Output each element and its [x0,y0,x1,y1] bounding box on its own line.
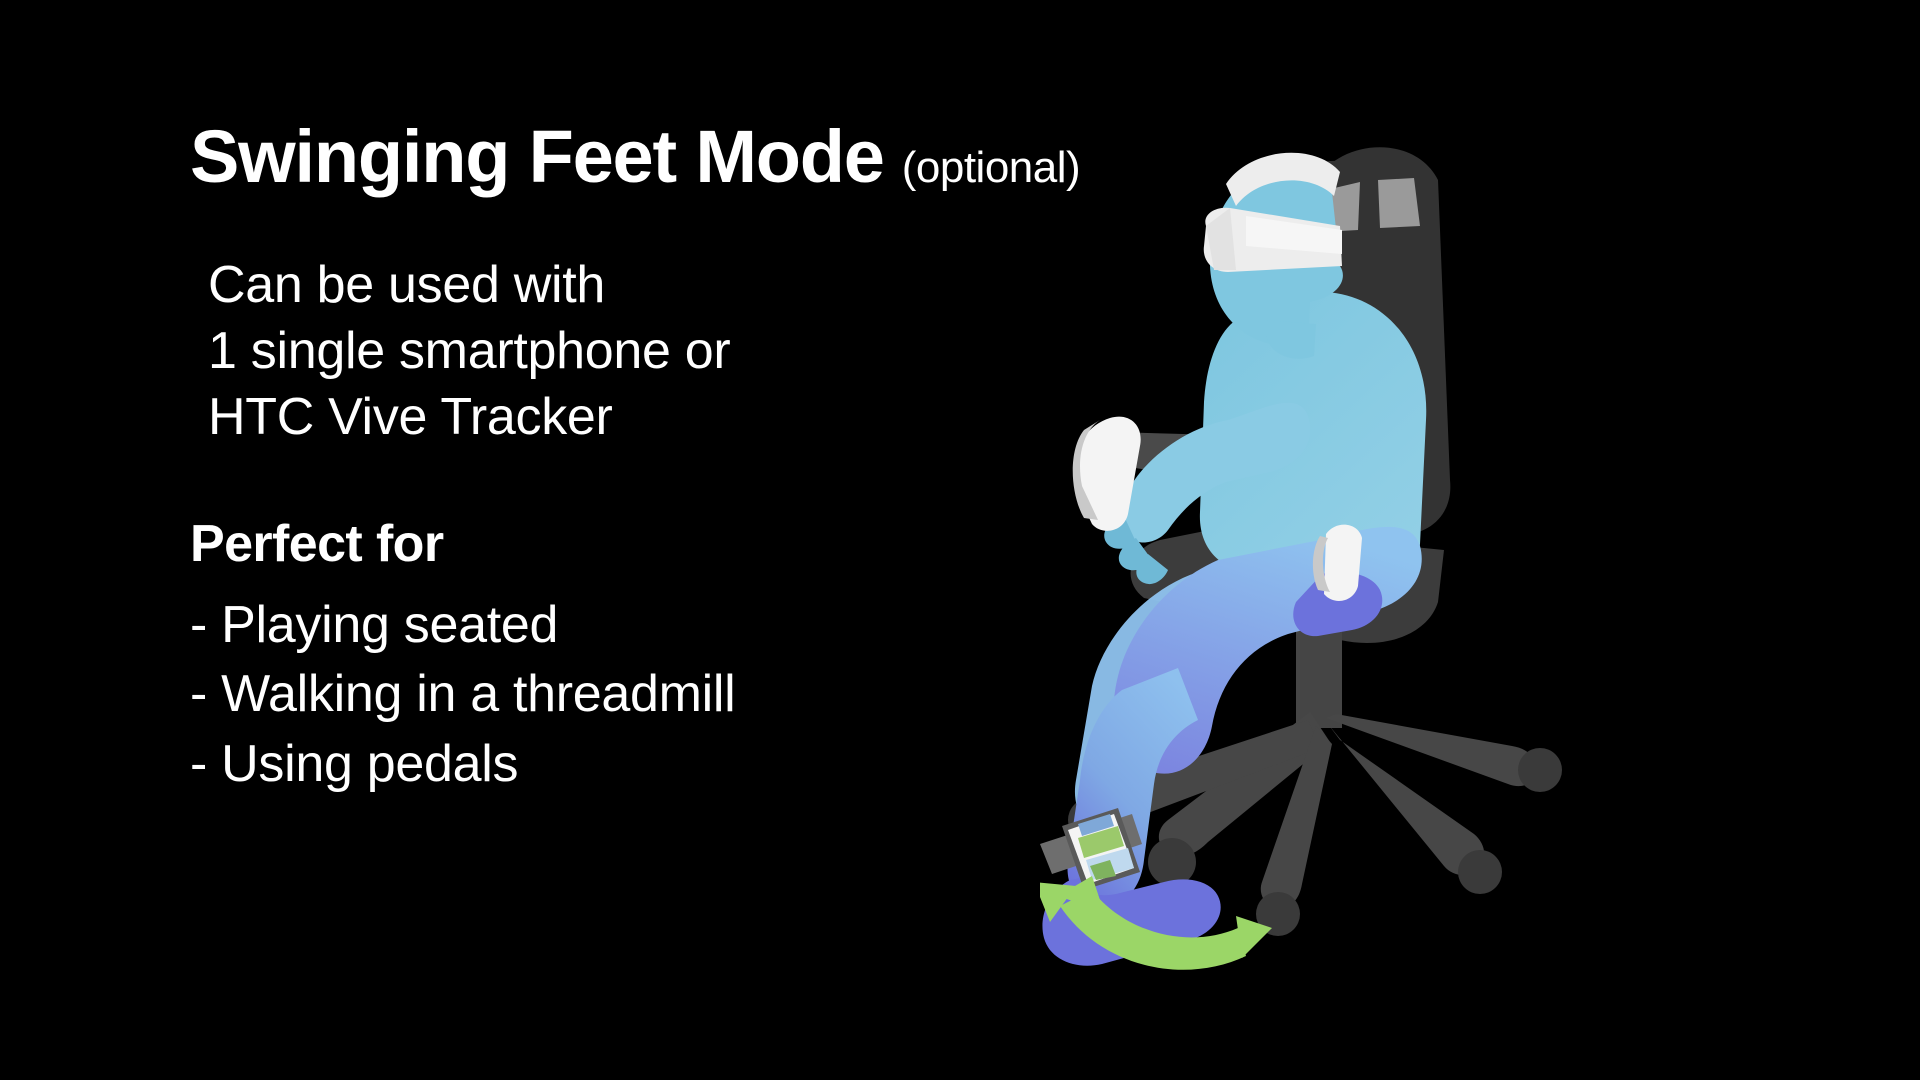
title-main-text: Swinging Feet Mode [190,120,884,194]
chair-accent-stripe-right [1378,178,1420,228]
vr-controller-left[interactable] [1313,525,1362,601]
illustration-seated-vr-user [1040,120,1860,1000]
slide-root: Swinging Feet Mode (optional) Can be use… [0,0,1920,1080]
